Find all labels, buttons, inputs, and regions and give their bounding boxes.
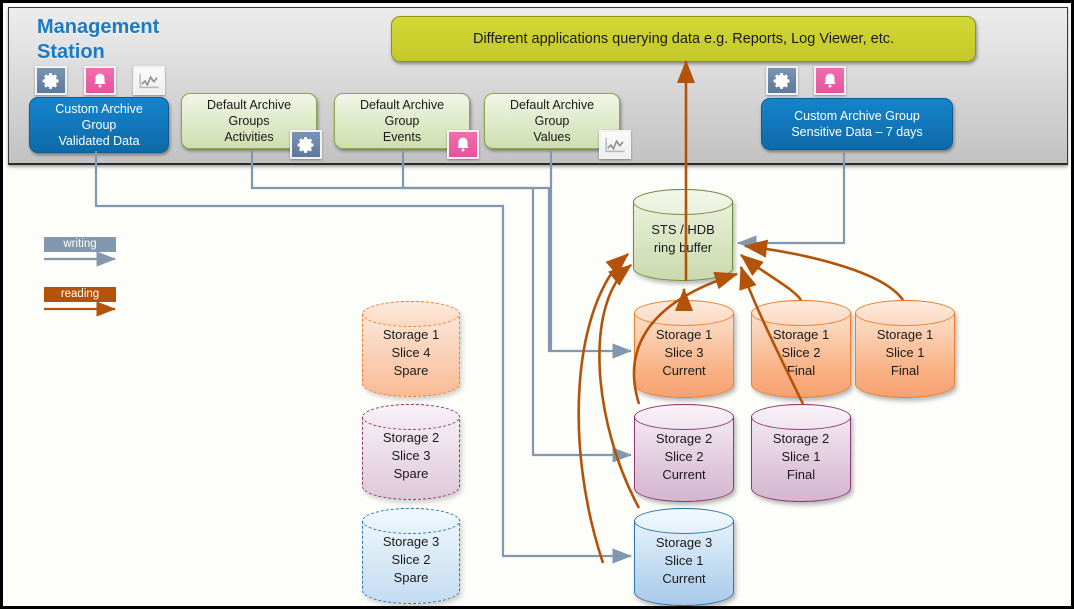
wire-storage2s2-to-ringbuffer: [634, 274, 737, 404]
reading-connector-layer: [3, 3, 1074, 609]
wire-storage3s1-to-ringbuffer: [599, 265, 639, 508]
chart-icon[interactable]: [599, 130, 631, 159]
gear-icon[interactable]: [290, 130, 322, 159]
bell-icon[interactable]: [447, 130, 479, 159]
diagram-canvas: Management Station Different application…: [0, 0, 1074, 609]
wire-storage1s1-to-ringbuffer: [745, 246, 903, 300]
wire-storage2s1-to-ringbuffer: [741, 267, 803, 404]
